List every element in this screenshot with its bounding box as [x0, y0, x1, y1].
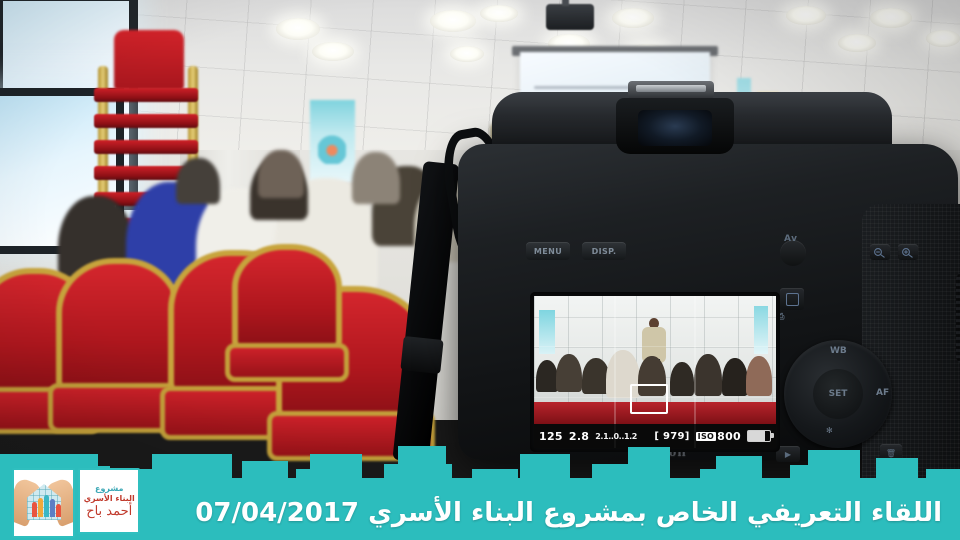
- set-button[interactable]: SET: [813, 369, 863, 419]
- magnify-in-icon[interactable]: [898, 244, 918, 260]
- viewfinder-eyepiece: [638, 110, 712, 146]
- skyline-block: [876, 458, 918, 478]
- chair-back: [232, 244, 342, 352]
- audience-member: [352, 152, 400, 204]
- skyline-block: [398, 446, 446, 478]
- event-headline: اللقاء التعريفي الخاص بمشروع البناء الأس…: [195, 498, 942, 528]
- ceiling-light: [612, 8, 654, 28]
- ceiling-projector: [546, 4, 594, 30]
- skyline-block: [242, 461, 288, 478]
- ceiling-light: [480, 5, 518, 22]
- dslr-camera: MENU DISP. Av: [430, 92, 960, 460]
- hot-shoe: [628, 81, 714, 99]
- av-label: Av: [784, 234, 798, 244]
- project-logo: مشروع البناء الأسري أحمد باح: [12, 468, 140, 534]
- family-figure: [50, 499, 55, 517]
- skyline-block: [152, 454, 232, 478]
- autofocus-label: AF: [876, 388, 889, 398]
- camera-strap-clip: [400, 336, 443, 374]
- skyline-block: [808, 450, 860, 478]
- rollup-banner: [310, 100, 355, 182]
- logo-text-card: مشروع البناء الأسري أحمد باح: [78, 468, 140, 534]
- ceiling-light: [926, 30, 960, 47]
- audience-member: [258, 150, 304, 198]
- skyline-block: [520, 454, 570, 478]
- stacked-chair-seat: [94, 114, 198, 128]
- white-balance-label: WB: [830, 346, 847, 356]
- logo-line-2: البناء الأسري: [84, 494, 135, 503]
- chair-seat: [225, 343, 348, 382]
- ceiling-light: [276, 18, 320, 40]
- family-figure: [38, 498, 43, 517]
- family-figure: [56, 504, 61, 517]
- camera-back-body: MENU DISP. Av: [458, 144, 958, 460]
- display-button[interactable]: DISP.: [582, 242, 626, 260]
- ceiling-light: [430, 10, 476, 32]
- screenshot-root: MENU DISP. Av: [0, 0, 960, 540]
- quick-menu-button[interactable]: [780, 288, 804, 310]
- chair-back: [56, 258, 182, 395]
- audience-member: [176, 158, 220, 204]
- logo-icon-card: [12, 468, 75, 538]
- stacked-chair-seat: [94, 88, 198, 102]
- chair: [232, 244, 342, 394]
- family-figure: [44, 495, 49, 517]
- rollup-artwork: [318, 130, 346, 164]
- logo-line-1: مشروع: [95, 484, 124, 493]
- stacked-chair-seat: [94, 140, 198, 154]
- family-figure: [32, 502, 37, 517]
- skyline-block: [310, 454, 362, 478]
- skyline-block: [716, 456, 762, 478]
- ceiling-light: [312, 42, 354, 61]
- lcd-bezel: 125 2.8 2.1..0..1.2 [ 979] ISO800: [530, 292, 780, 452]
- ceiling-light: [786, 6, 826, 25]
- skyline-block: [472, 469, 518, 478]
- magnify-out-icon[interactable]: [870, 244, 890, 260]
- lens-barrel: [956, 272, 960, 364]
- logo-line-3: أحمد باح: [86, 505, 132, 518]
- skyline-block: [926, 469, 960, 478]
- viewfinder: [616, 98, 734, 154]
- ceiling-light: [870, 8, 912, 28]
- menu-button[interactable]: MENU: [526, 242, 570, 260]
- lcd-live-view[interactable]: 125 2.8 2.1..0..1.2 [ 979] ISO800: [534, 296, 776, 448]
- skyline-block: [628, 447, 670, 478]
- ceiling-light: [838, 34, 876, 52]
- stacked-chair-top: [114, 30, 184, 90]
- event-footer-banner: مشروع البناء الأسري أحمد باح اللقاء التع…: [0, 435, 960, 540]
- picture-style-icon: ✻: [826, 426, 833, 435]
- af-point-box: [630, 384, 668, 414]
- ceiling-light: [450, 46, 484, 62]
